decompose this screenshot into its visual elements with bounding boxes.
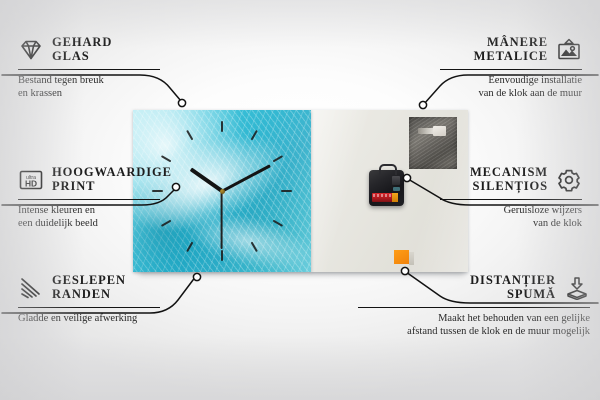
callout-desc-geslepen-randen: Gladde en veilige afwerking: [18, 313, 188, 326]
callout-head-geslepen-randen: GESLEPEN RANDEN: [18, 274, 188, 301]
spacer-arrow-icon: [564, 276, 590, 300]
callout-desc-mecanism-silentios: Geruisloze wijzers van de klok: [392, 205, 582, 230]
clock-center-cap: [220, 189, 225, 194]
metal-grain-texture: [409, 117, 457, 169]
callout-rule-geslepen-randen: [18, 307, 160, 308]
callout-desc-gehard-glas: Bestand tegen breuk en krassen: [18, 75, 178, 100]
clock-tick-0: [221, 121, 223, 132]
callout-rule-distantier-spuma: [358, 307, 590, 308]
callout-desc-manere-metalice: Eenvoudige installatie van de klok aan d…: [392, 75, 582, 100]
callout-title-gehard-glas: GEHARD GLAS: [52, 36, 112, 63]
callout-geslepen-randen: GESLEPEN RANDEN Gladde en veilige afwerk…: [18, 274, 188, 326]
bevelled-edges-icon: [18, 276, 44, 300]
gear-icon: [556, 168, 582, 192]
callout-desc-distantier-spuma: Maakt het behouden van een gelijke afsta…: [340, 313, 590, 338]
metal-hook-highlight: [433, 126, 446, 136]
callout-title-distantier-spuma: DISTANȚIER SPUMĂ: [470, 274, 556, 301]
clock-tick-1: [251, 130, 258, 141]
callout-rule-hoogwaardige-print: [18, 199, 160, 200]
callout-title-mecanism-silentios: MECANISM SILENȚIOS: [470, 166, 548, 193]
diamond-icon: [18, 38, 44, 62]
callout-title-hoogwaardige-print: HOOGWAARDIGE PRINT: [52, 166, 172, 193]
clock-tick-6: [221, 250, 223, 261]
callout-distantier-spuma: DISTANȚIER SPUMĂ Maakt het behouden van …: [340, 274, 590, 339]
clock-tick-11: [186, 130, 193, 141]
callout-head-hoogwaardige-print: ultra HD HOOGWAARDIGE PRINT: [18, 166, 188, 193]
callout-gehard-glas: GEHARD GLAS Bestand tegen breuk en krass…: [18, 36, 178, 101]
clock-tick-2: [273, 155, 284, 162]
clock-tick-3: [281, 190, 292, 192]
callout-desc-hoogwaardige-print: Intense kleuren en een duidelijk beeld: [18, 205, 188, 230]
clock-tick-10: [161, 155, 172, 162]
clock-tick-4: [273, 220, 284, 227]
callout-head-mecanism-silentios: MECANISM SILENȚIOS: [392, 166, 582, 193]
picture-frame-hanger-icon: [556, 38, 582, 62]
callout-hoogwaardige-print: ultra HD HOOGWAARDIGE PRINT Intense kleu…: [18, 166, 188, 231]
callout-title-manere-metalice: MÂNERE METALICE: [474, 36, 548, 63]
clock-tick-7: [186, 242, 193, 253]
infographic-canvas: GEHARD GLAS Bestand tegen breuk en krass…: [0, 0, 600, 400]
metal-hanger-plate: [409, 117, 457, 169]
callout-rule-mecanism-silentios: [440, 199, 582, 200]
callout-head-distantier-spuma: DISTANȚIER SPUMĂ: [340, 274, 590, 301]
clock-tick-5: [251, 242, 258, 253]
callout-rule-gehard-glas: [18, 69, 160, 70]
svg-text:HD: HD: [25, 178, 37, 188]
foam-spacer: [394, 250, 409, 264]
ultra-hd-icon: ultra HD: [18, 168, 44, 192]
callout-mecanism-silentios: MECANISM SILENȚIOS Geruisloze wijzers va…: [392, 166, 582, 231]
callout-head-gehard-glas: GEHARD GLAS: [18, 36, 178, 63]
callout-rule-manere-metalice: [440, 69, 582, 70]
foam-spacer-side: [409, 252, 414, 265]
callout-title-geslepen-randen: GESLEPEN RANDEN: [52, 274, 126, 301]
callout-manere-metalice: MÂNERE METALICE Eenvoudige installatie v…: [392, 36, 582, 101]
clock-second-hand: [221, 191, 223, 249]
callout-head-manere-metalice: MÂNERE METALICE: [392, 36, 582, 63]
